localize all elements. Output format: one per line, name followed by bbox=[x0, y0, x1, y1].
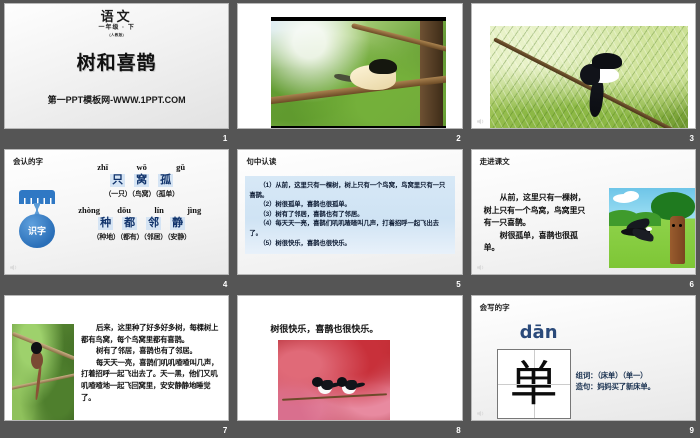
hanzi-cell: 只 bbox=[110, 174, 125, 187]
slide-thumbnail-grid: 语文 一年级 · 下 (人教版) 树和喜鹊 第一PPT模板网-WWW.1PPT.… bbox=[0, 0, 700, 438]
paragraph: 后来，这里种了好多好多树，每棵树上都有鸟窝，每个鸟窝里都有喜鹊。 bbox=[81, 322, 222, 345]
slide-cell-3[interactable]: 3 bbox=[467, 0, 700, 146]
lesson-text: 后来，这里种了好多好多树，每棵树上都有鸟窝，每个鸟窝里都有喜鹊。 树有了邻居，喜… bbox=[81, 322, 222, 403]
pinyin-cell: dōu bbox=[111, 205, 137, 216]
literacy-badge: 识字 bbox=[17, 190, 57, 248]
paragraph: 树很孤单，喜鹊也很孤单。 bbox=[484, 230, 592, 255]
hanzi-cell: 种 bbox=[98, 217, 113, 230]
sentence-example-note: 造句：妈妈买了新床单。 bbox=[576, 381, 690, 392]
title-slide[interactable]: 语文 一年级 · 下 (人教版) 树和喜鹊 第一PPT模板网-WWW.1PPT.… bbox=[4, 3, 229, 129]
badge-text: 识字 bbox=[28, 226, 46, 236]
new-characters-slide[interactable]: 会认的字 识字 zhī wō gū 只 窝 bbox=[4, 149, 229, 275]
word-examples-row-1: （一只）（鸟窝）（孤单） bbox=[61, 189, 222, 199]
writing-character-slide[interactable]: 会写的字 dān 单 组词：（床单）（单一） 造句：妈妈买了新床单。 bbox=[471, 295, 696, 421]
sentence-reading-slide[interactable]: 句中认读 （1）从前，这里只有一棵树，树上只有一个鸟窝，鸟窝里只有一只喜鹊。 （… bbox=[237, 149, 462, 275]
page-title: 树和喜鹊 bbox=[5, 48, 228, 75]
hanzi-cell: 邻 bbox=[146, 217, 161, 230]
happy-ending-slide[interactable]: 树很快乐，喜鹊也很快乐。 bbox=[237, 295, 462, 421]
character-notes: 组词：（床单）（单一） 造句：妈妈买了新床单。 bbox=[576, 370, 690, 392]
sentence-box: （1）从前，这里只有一棵树，树上只有一个鸟窝，鸟窝里只有一只喜鹊。 （2）树很孤… bbox=[245, 176, 454, 254]
sound-icon[interactable] bbox=[476, 409, 485, 418]
section-title: 走进课文 bbox=[480, 156, 510, 167]
sentence-item: （2）树很孤单，喜鹊也很孤单。 bbox=[249, 200, 450, 210]
word-formation-note: 组词：（床单）（单一） bbox=[576, 370, 690, 381]
sentence-item: （1）从前，这里只有一棵树，树上只有一个鸟窝，鸟窝里只有一只喜鹊。 bbox=[249, 181, 450, 200]
slide-number: 5 bbox=[456, 279, 460, 290]
paragraph: 每天天一亮，喜鹊们叽叽喳喳叫几声，打着招呼一起飞出去了。天一黑，他们又叽叽喳喳地… bbox=[81, 357, 222, 403]
slide-number: 2 bbox=[456, 133, 460, 144]
pinyin-row-1: zhī wō gū bbox=[61, 162, 222, 173]
tianzige-grid: 单 bbox=[497, 349, 571, 419]
paragraph: 树有了邻居，喜鹊也有了邻居。 bbox=[81, 345, 222, 357]
hanzi-cell: 孤 bbox=[158, 174, 173, 187]
pinyin-cell: gū bbox=[168, 162, 194, 173]
badge-label: 识字 bbox=[19, 214, 55, 248]
sound-icon[interactable] bbox=[476, 117, 485, 126]
lesson-line: 树很快乐，喜鹊也很快乐。 bbox=[270, 322, 378, 335]
photo-willow-magpie bbox=[490, 26, 688, 129]
paragraph: 从前，这里只有一棵树，树上只有一个鸟窝，鸟窝里只有一只喜鹊。 bbox=[484, 192, 592, 230]
pinyin-display: dān bbox=[520, 323, 558, 343]
slide-cell-5[interactable]: 句中认读 （1）从前，这里只有一棵树，树上只有一个鸟窝，鸟窝里只有一只喜鹊。 （… bbox=[233, 146, 466, 292]
slide-number: 1 bbox=[223, 133, 227, 144]
slide-number: 7 bbox=[223, 425, 227, 436]
sentence-item: （5）树很快乐，喜鹊也很快乐。 bbox=[249, 239, 450, 249]
character-display: 单 bbox=[498, 350, 570, 418]
photo-slide-magpie-on-willow[interactable] bbox=[471, 3, 696, 129]
pinyin-cell: jìng bbox=[181, 205, 207, 216]
edition-label: (人教版) bbox=[5, 32, 228, 38]
slide-number: 9 bbox=[690, 425, 694, 436]
slide-number: 4 bbox=[223, 279, 227, 290]
cartoon-illustration bbox=[609, 188, 696, 268]
section-title: 会认的字 bbox=[13, 156, 43, 167]
slide-cell-8[interactable]: 树很快乐，喜鹊也很快乐。 8 bbox=[233, 292, 466, 438]
subject-label: 语文 bbox=[5, 10, 228, 24]
slide-number: 8 bbox=[456, 425, 460, 436]
watermark-footer: 第一PPT模板网-WWW.1PPT.COM bbox=[5, 93, 228, 106]
photo-slide-bird-on-acacia[interactable] bbox=[237, 3, 462, 129]
photo-two-magpies-blossom bbox=[278, 340, 390, 420]
character-block: zhī wō gū 只 窝 孤 （一只）（鸟窝）（孤单） zhòng dōu bbox=[61, 162, 222, 242]
section-title: 会写的字 bbox=[480, 302, 510, 313]
sound-icon[interactable] bbox=[476, 263, 485, 272]
slide-cell-4[interactable]: 会认的字 识字 zhī wō gū 只 窝 bbox=[0, 146, 233, 292]
hanzi-cell: 窝 bbox=[134, 174, 149, 187]
word-examples-row-2: （种地）（都有）（邻居）（安静） bbox=[61, 232, 222, 242]
hanzi-cell: 静 bbox=[170, 217, 185, 230]
photo-paradise-flycatcher bbox=[12, 324, 74, 421]
hanzi-row-1: 只 窝 孤 bbox=[61, 174, 222, 187]
sentence-item: （4）每天天一亮，喜鹊们叽叽喳喳叫几声，打着招呼一起飞出去了。 bbox=[249, 219, 450, 238]
slide-cell-6[interactable]: 走进课文 从前，这里只有一棵树，树上只有一个鸟窝，鸟窝里只有一只喜鹊。 树很孤单… bbox=[467, 146, 700, 292]
character-row-2: zhòng dōu lín jìng 种 都 邻 静 （种地）（都有）（邻居）（… bbox=[61, 205, 222, 242]
lesson-text: 从前，这里只有一棵树，树上只有一个鸟窝，鸟窝里只有一只喜鹊。 树很孤单，喜鹊也很… bbox=[484, 192, 592, 255]
section-title: 句中认读 bbox=[246, 156, 276, 167]
slide-number: 3 bbox=[690, 133, 694, 144]
pinyin-cell: wō bbox=[129, 162, 155, 173]
pinyin-cell: lín bbox=[146, 205, 172, 216]
character-row-1: zhī wō gū 只 窝 孤 （一只）（鸟窝）（孤单） bbox=[61, 162, 222, 199]
sound-icon[interactable] bbox=[9, 263, 18, 272]
enter-text-slide[interactable]: 走进课文 从前，这里只有一棵树，树上只有一个鸟窝，鸟窝里只有一只喜鹊。 树很孤单… bbox=[471, 149, 696, 275]
pinyin-cell: zhī bbox=[90, 162, 116, 173]
grade-label: 一年级 · 下 bbox=[5, 24, 228, 32]
sentence-item: （3）树有了邻居，喜鹊也有了邻居。 bbox=[249, 210, 450, 220]
subject-block: 语文 一年级 · 下 (人教版) bbox=[5, 10, 228, 38]
slide-cell-1[interactable]: 语文 一年级 · 下 (人教版) 树和喜鹊 第一PPT模板网-WWW.1PPT.… bbox=[0, 0, 233, 146]
hanzi-row-2: 种 都 邻 静 bbox=[61, 217, 222, 230]
pinyin-row-2: zhòng dōu lín jìng bbox=[61, 205, 222, 216]
crown-icon bbox=[19, 190, 55, 204]
slide-cell-2[interactable]: 2 bbox=[233, 0, 466, 146]
slide-number: 6 bbox=[690, 279, 694, 290]
hanzi-cell: 都 bbox=[122, 217, 137, 230]
slide-cell-7[interactable]: 后来，这里种了好多好多树，每棵树上都有鸟窝，每个鸟窝里都有喜鹊。 树有了邻居，喜… bbox=[0, 292, 233, 438]
photo-acacia-bird bbox=[271, 17, 446, 129]
text-with-photo-slide[interactable]: 后来，这里种了好多好多树，每棵树上都有鸟窝，每个鸟窝里都有喜鹊。 树有了邻居，喜… bbox=[4, 295, 229, 421]
pinyin-cell: zhòng bbox=[76, 205, 102, 216]
slide-cell-9[interactable]: 会写的字 dān 单 组词：（床单）（单一） 造句：妈妈买了新床单。 9 bbox=[467, 292, 700, 438]
